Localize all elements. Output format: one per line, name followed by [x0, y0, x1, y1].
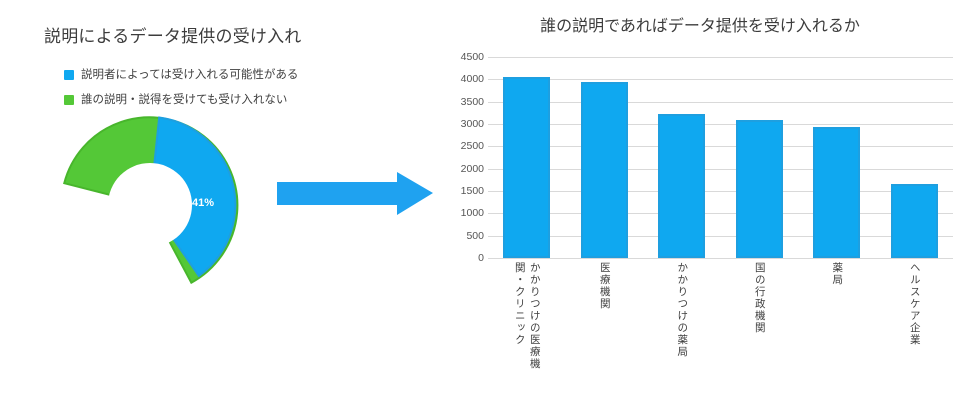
- legend-item-never-accept[interactable]: 誰の説明・説得を受けても受け入れない: [64, 93, 394, 107]
- x-axis-tick-label-column: かかりつけの医療機: [529, 262, 540, 412]
- x-axis-tick-label: 医療機関: [567, 262, 641, 412]
- y-axis-tick-label: 1000: [444, 208, 484, 219]
- x-axis-tick-label-column: 国の行政機関: [754, 262, 765, 412]
- legend-label-never-accept: 誰の説明・説得を受けても受け入れない: [81, 93, 287, 107]
- y-axis-tick-label: 1500: [444, 186, 484, 197]
- legend-item-accept-maybe[interactable]: 説明者によっては受け入れる可能性がある: [64, 68, 394, 82]
- donut-chart-title: 説明によるデータ提供の受け入れ: [44, 22, 424, 47]
- donut-chart-svg: 41% 59%: [55, 110, 245, 300]
- x-axis-tick-label: かかりつけの薬局: [645, 262, 719, 412]
- x-axis-tick-label-column: 薬局: [831, 262, 842, 412]
- bar[interactable]: [736, 120, 783, 258]
- donut-value-blue: 41%: [192, 197, 214, 209]
- donut-value-green: 59%: [86, 208, 108, 220]
- flow-arrow-icon: [275, 172, 435, 216]
- y-axis-tick-label: 2000: [444, 163, 484, 174]
- bar[interactable]: [503, 77, 550, 258]
- legend-swatch-blue-icon: [64, 70, 74, 80]
- y-axis-tick-label: 0: [444, 253, 484, 264]
- donut-chart: 41% 59%: [55, 110, 245, 300]
- x-axis-tick-label: ヘルスケア企業: [877, 262, 951, 412]
- legend-swatch-green-icon: [64, 95, 74, 105]
- x-axis-tick-label: 国の行政機関: [722, 262, 796, 412]
- x-axis-tick-label: 薬局: [800, 262, 874, 412]
- bar-chart-title: 誰の説明であればデータ提供を受け入れるか: [440, 12, 960, 36]
- bar[interactable]: [581, 82, 628, 258]
- x-axis-tick-label-column: かかりつけの薬局: [676, 262, 687, 412]
- y-axis-tick-label: 3500: [444, 96, 484, 107]
- x-axis-tick-label-column: ヘルスケア企業: [909, 262, 920, 412]
- y-axis-tick-label: 500: [444, 230, 484, 241]
- y-axis: 050010001500200025003000350040004500: [440, 40, 484, 415]
- bar[interactable]: [658, 114, 705, 258]
- x-axis: かかりつけの医療機関・クリニック医療機関かかりつけの薬局国の行政機関薬局ヘルスケ…: [488, 262, 953, 417]
- bar[interactable]: [891, 184, 938, 258]
- legend-label-accept-maybe: 説明者によっては受け入れる可能性がある: [81, 68, 298, 82]
- y-axis-tick-label: 4000: [444, 74, 484, 85]
- y-axis-tick-label: 3000: [444, 119, 484, 130]
- donut-hole: [108, 163, 192, 247]
- x-axis-tick-label-column: 関・クリニック: [514, 262, 525, 412]
- bar[interactable]: [813, 127, 860, 258]
- y-axis-tick-label: 4500: [444, 52, 484, 63]
- y-axis-tick-label: 2500: [444, 141, 484, 152]
- bar-chart-plot-area: 050010001500200025003000350040004500 かかり…: [440, 40, 960, 415]
- x-axis-tick-label-column: 医療機関: [599, 262, 610, 412]
- flow-arrow: [275, 172, 435, 216]
- x-axis-tick-label: かかりつけの医療機関・クリニック: [490, 262, 564, 412]
- bar-chart-panel: 誰の説明であればデータ提供を受け入れるか 0500100015002000250…: [440, 0, 960, 419]
